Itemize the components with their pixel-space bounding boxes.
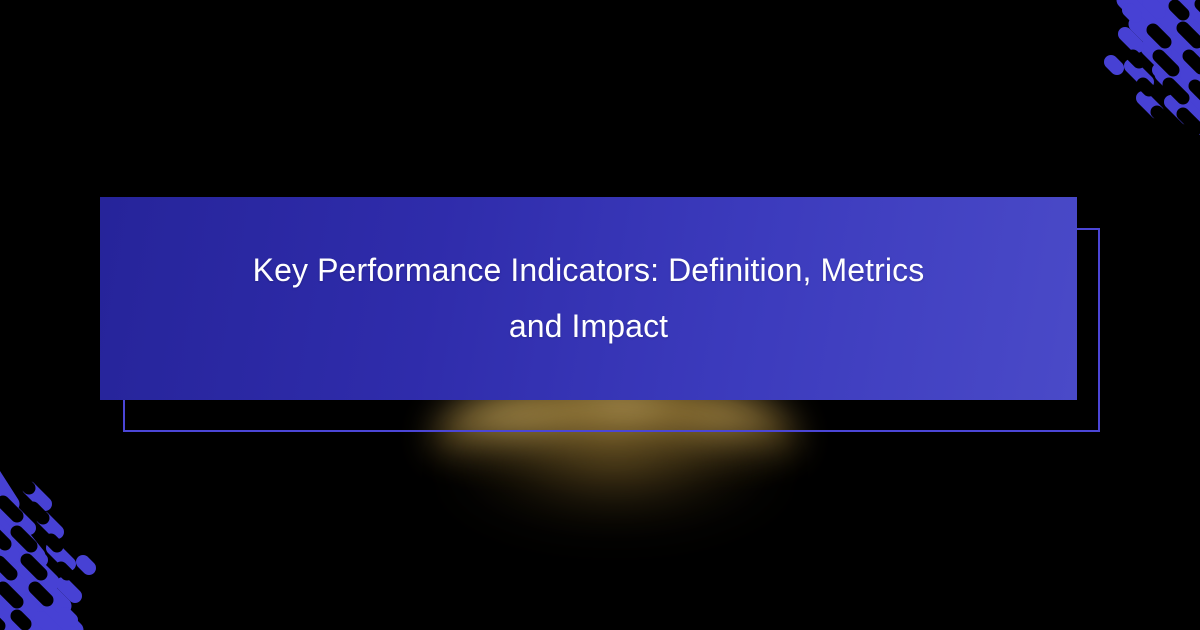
page-title: Key Performance Indicators: Definition, … [249, 243, 929, 353]
page-title-line-1: Key Performance Indicators: Definition, [253, 252, 812, 288]
title-card-canvas: Key Performance Indicators: Definition, … [0, 0, 1200, 630]
title-card: Key Performance Indicators: Definition, … [100, 197, 1077, 400]
